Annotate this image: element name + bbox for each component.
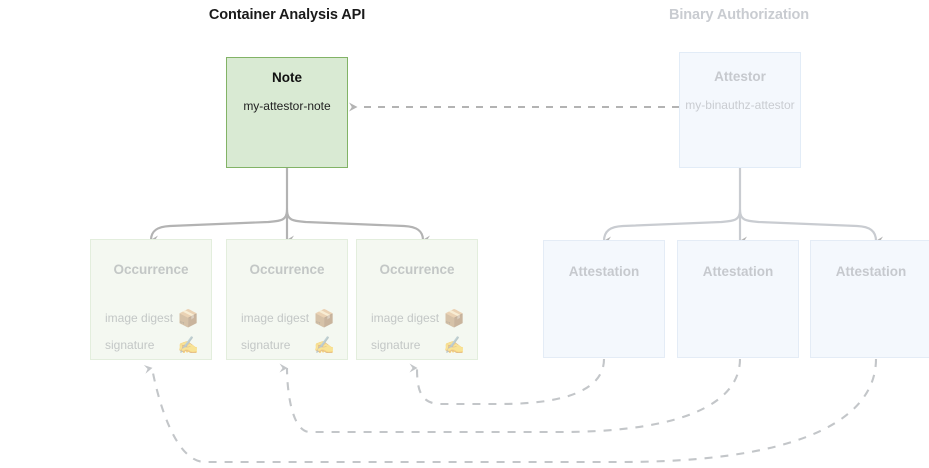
occurrence-row-label: image digest [371, 311, 439, 325]
node-attestation[interactable]: Attestation [810, 240, 929, 358]
diagram-canvas: Container Analysis API Binary Authorizat… [0, 0, 929, 468]
occurrence-row-label: signature [371, 338, 420, 352]
occurrence-row-signature: signature ✍️ [241, 334, 335, 356]
package-icon: 📦 [444, 310, 465, 327]
node-note-title: Note [227, 70, 347, 85]
node-occurrence[interactable]: Occurrence image digest 📦 signature ✍️ [356, 239, 478, 360]
node-occurrence-title: Occurrence [227, 262, 347, 277]
occurrence-row-signature: signature ✍️ [371, 334, 465, 356]
package-icon: 📦 [314, 310, 335, 327]
writing-hand-icon: ✍️ [314, 337, 335, 354]
occurrence-row-label: signature [241, 338, 290, 352]
occurrence-row-image-digest: image digest 📦 [371, 307, 465, 329]
connector-note-to-occurrences [151, 168, 423, 240]
package-icon: 📦 [178, 310, 199, 327]
section-title-binary-authorization: Binary Authorization [660, 7, 818, 23]
occurrence-row-label: image digest [241, 311, 309, 325]
connector-attestations-to-occurrences [152, 359, 876, 462]
writing-hand-icon: ✍️ [444, 337, 465, 354]
node-occurrence-title: Occurrence [357, 262, 477, 277]
node-attestor[interactable]: Attestor my-binauthz-attestor [679, 52, 801, 168]
connector-attestor-to-attestations [604, 168, 876, 241]
node-occurrence[interactable]: Occurrence image digest 📦 signature ✍️ [90, 239, 212, 360]
node-attestation[interactable]: Attestation [543, 240, 665, 358]
occurrence-row-signature: signature ✍️ [105, 334, 199, 356]
occurrence-row-image-digest: image digest 📦 [241, 307, 335, 329]
node-note-subtitle: my-attestor-note [227, 99, 347, 113]
occurrence-row-label: image digest [105, 311, 173, 325]
writing-hand-icon: ✍️ [178, 337, 199, 354]
node-attestation-title: Attestation [678, 264, 798, 279]
node-occurrence-title: Occurrence [91, 262, 211, 277]
node-attestor-subtitle: my-binauthz-attestor [680, 98, 800, 112]
occurrence-row-label: signature [105, 338, 154, 352]
node-attestation[interactable]: Attestation [677, 240, 799, 358]
section-title-container-analysis: Container Analysis API [196, 7, 378, 23]
node-attestation-title: Attestation [544, 264, 664, 279]
occurrence-row-image-digest: image digest 📦 [105, 307, 199, 329]
node-occurrence[interactable]: Occurrence image digest 📦 signature ✍️ [226, 239, 348, 360]
node-attestation-title: Attestation [811, 264, 929, 279]
node-attestor-title: Attestor [680, 69, 800, 84]
node-note[interactable]: Note my-attestor-note [226, 57, 348, 168]
